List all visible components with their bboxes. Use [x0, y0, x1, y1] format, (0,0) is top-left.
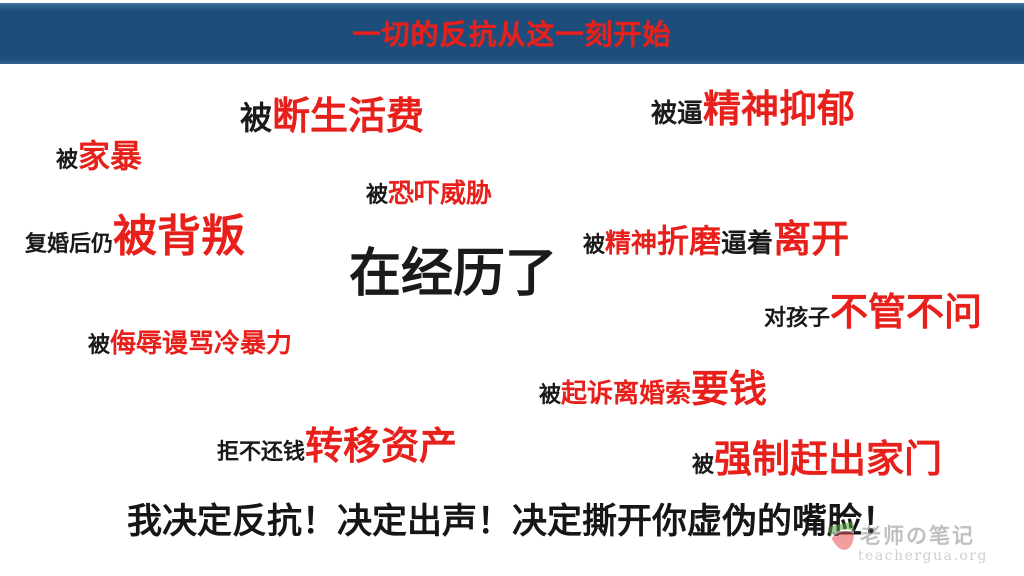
word-seg: 要钱 [691, 370, 767, 408]
word-item-bi-jing-shen-yi-yu: 被逼精神抑郁 [651, 90, 855, 128]
word-item-suo-yao-qian: 被起诉离婚索要钱 [539, 370, 767, 408]
word-item-kong-he-wei-xie: 被恐吓威胁 [366, 181, 492, 207]
word-seg: 在经历了 [349, 248, 557, 300]
word-seg: 被 [583, 235, 605, 257]
word-seg: 离开 [773, 220, 849, 258]
word-item-duan-sheng-huo-fei: 被断生活费 [240, 97, 424, 135]
word-seg: 被 [692, 455, 714, 477]
word-item-bei-pan: 复婚后仍被背叛 [25, 215, 245, 259]
word-seg: 被 [56, 150, 78, 172]
word-seg: 断生活费 [272, 97, 424, 135]
word-seg: 被 [366, 185, 388, 207]
word-seg: 被 [240, 102, 272, 134]
word-seg: 强制赶出家门 [714, 440, 942, 478]
word-seg: 拒不还钱 [217, 442, 305, 464]
page-title: 一切的反抗从这一刻开始 [352, 21, 671, 49]
title-banner: 一切的反抗从这一刻开始 [0, 3, 1024, 64]
word-seg: 对孩子 [764, 308, 830, 330]
word-item-wu-ru-man-ma: 被侮辱谩骂冷暴力 [88, 331, 292, 357]
watermark-url: teachergua.org [858, 548, 988, 564]
word-seg: 复婚后仍 [25, 234, 113, 256]
word-seg: 恐吓威胁 [388, 181, 492, 207]
word-seg: 逼着 [721, 231, 773, 257]
word-seg: 起诉离婚索 [561, 381, 691, 407]
word-item-jia-bao: 被家暴 [56, 140, 142, 172]
word-seg: 被逼 [651, 101, 703, 127]
word-seg: 不管不问 [830, 293, 982, 331]
word-seg: 被 [88, 335, 110, 357]
word-seg: 被背叛 [113, 215, 245, 259]
word-item-gan-chu-jia-men: 被强制赶出家门 [692, 440, 942, 478]
word-seg: 精神抑郁 [703, 90, 855, 128]
word-seg: 侮辱谩骂冷暴力 [110, 331, 292, 357]
word-item-bu-guan-bu-wen: 对孩子不管不问 [764, 293, 982, 331]
word-seg: 折磨 [657, 225, 721, 257]
word-seg: 精神 [605, 231, 657, 257]
word-seg: 家暴 [78, 140, 142, 172]
word-item-zhuan-yi-zi-chan: 拒不还钱转移资产 [217, 427, 457, 465]
word-seg: 被 [539, 385, 561, 407]
word-item-zai-jing-li-le: 在经历了 [349, 248, 557, 300]
word-seg: 转移资产 [305, 427, 457, 465]
bottom-slogan: 我决定反抗！决定出声！决定撕开你虚伪的嘴脸！ [0, 504, 1024, 541]
word-item-jing-shen-zhe-mo-li-kai: 被精神折磨逼着离开 [583, 220, 849, 258]
poster-canvas: 一切的反抗从这一刻开始 被断生活费 被逼精神抑郁 被家暴 被恐吓威胁 复婚后仍被… [0, 0, 1024, 576]
